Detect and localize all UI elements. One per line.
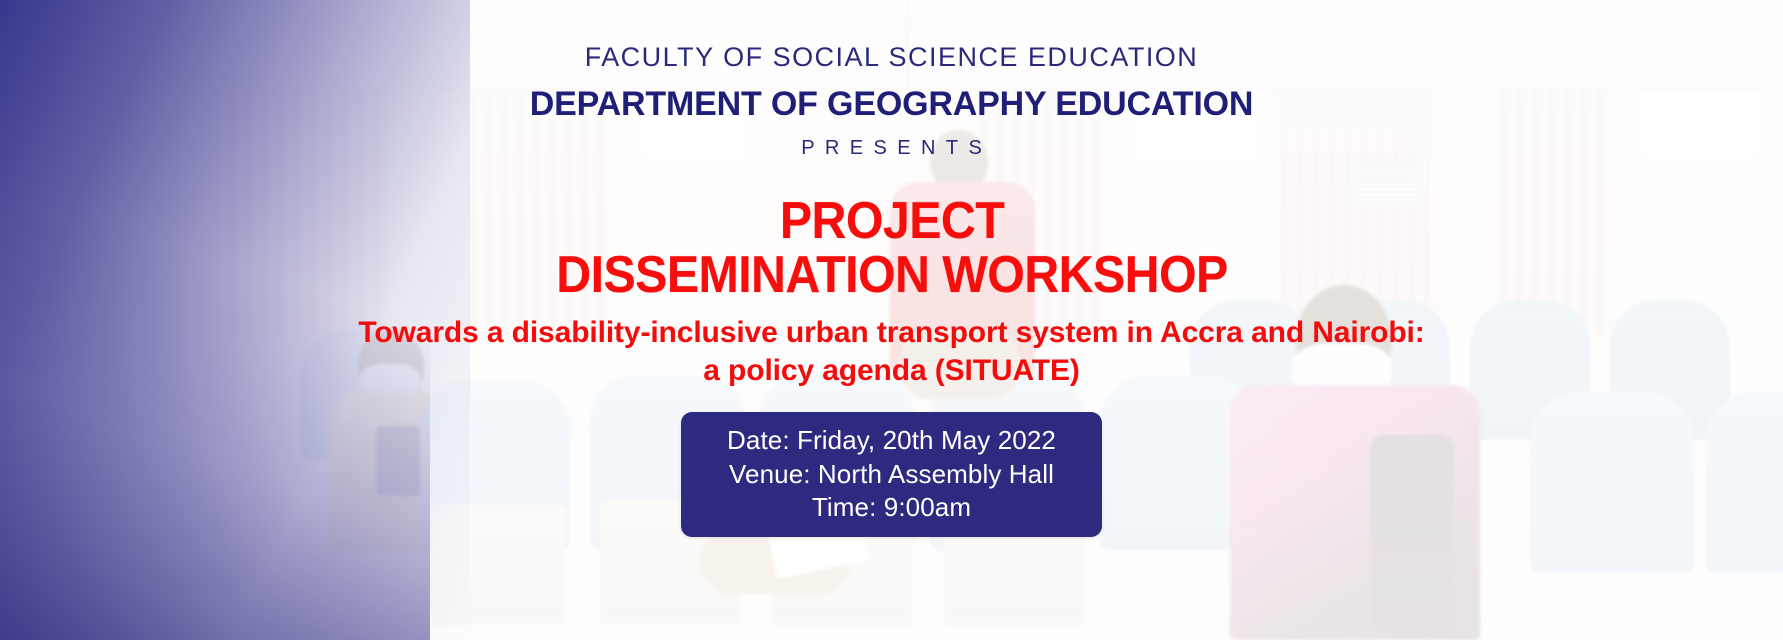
event-title-line2: DISSEMINATION WORKSHOP [556, 248, 1227, 302]
presents-label: PRESENTS [791, 138, 992, 158]
event-venue: Venue: North Assembly Hall [727, 458, 1056, 491]
event-date: Date: Friday, 20th May 2022 [727, 424, 1056, 457]
event-subtitle: Towards a disability-inclusive urban tra… [358, 314, 1424, 390]
faculty-line: FACULTY OF SOCIAL SCIENCE EDUCATION [585, 44, 1199, 71]
event-title-line1: PROJECT [779, 192, 1003, 250]
event-title: PROJECT DISSEMINATION WORKSHOP [556, 194, 1227, 302]
event-time: Time: 9:00am [727, 491, 1056, 524]
event-subtitle-line1: Towards a disability-inclusive urban tra… [358, 314, 1424, 352]
department-line: DEPARTMENT OF GEOGRAPHY EDUCATION [530, 87, 1254, 121]
event-subtitle-line2: a policy agenda (SITUATE) [358, 352, 1424, 390]
event-banner: FACULTY OF SOCIAL SCIENCE EDUCATION DEPA… [0, 0, 1783, 640]
event-details-box: Date: Friday, 20th May 2022 Venue: North… [681, 412, 1102, 537]
banner-content: FACULTY OF SOCIAL SCIENCE EDUCATION DEPA… [0, 0, 1783, 640]
